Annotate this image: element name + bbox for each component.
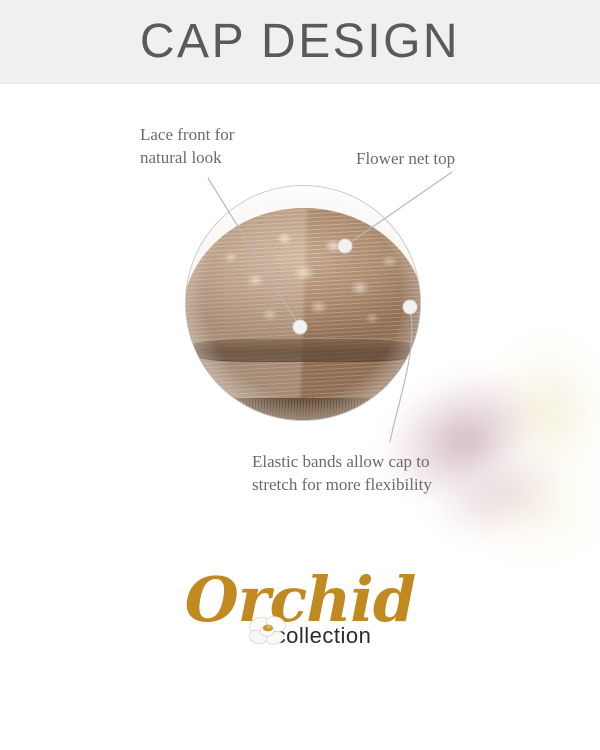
wig-cap-photo bbox=[185, 185, 421, 421]
photo-vignette bbox=[186, 186, 420, 420]
cap-design-page: CAP DESIGN Lace fro bbox=[0, 0, 600, 750]
background-petal-cream bbox=[480, 330, 600, 510]
header-band: CAP DESIGN bbox=[0, 0, 600, 84]
callout-label-lace-front: Lace front for natural look bbox=[140, 123, 234, 169]
brand-logo: Orchid collection bbox=[0, 565, 600, 660]
callout-label-elastic-bands: Elastic bands allow cap to stretch for m… bbox=[252, 450, 432, 496]
page-title: CAP DESIGN bbox=[0, 15, 600, 69]
brand-subtitle: collection bbox=[0, 623, 600, 649]
callout-label-flower-net: Flower net top bbox=[356, 147, 455, 170]
background-petal-cream-secondary bbox=[455, 448, 600, 568]
background-petal-mauve-tertiary bbox=[416, 433, 575, 556]
orchid-flower-icon bbox=[246, 612, 292, 648]
